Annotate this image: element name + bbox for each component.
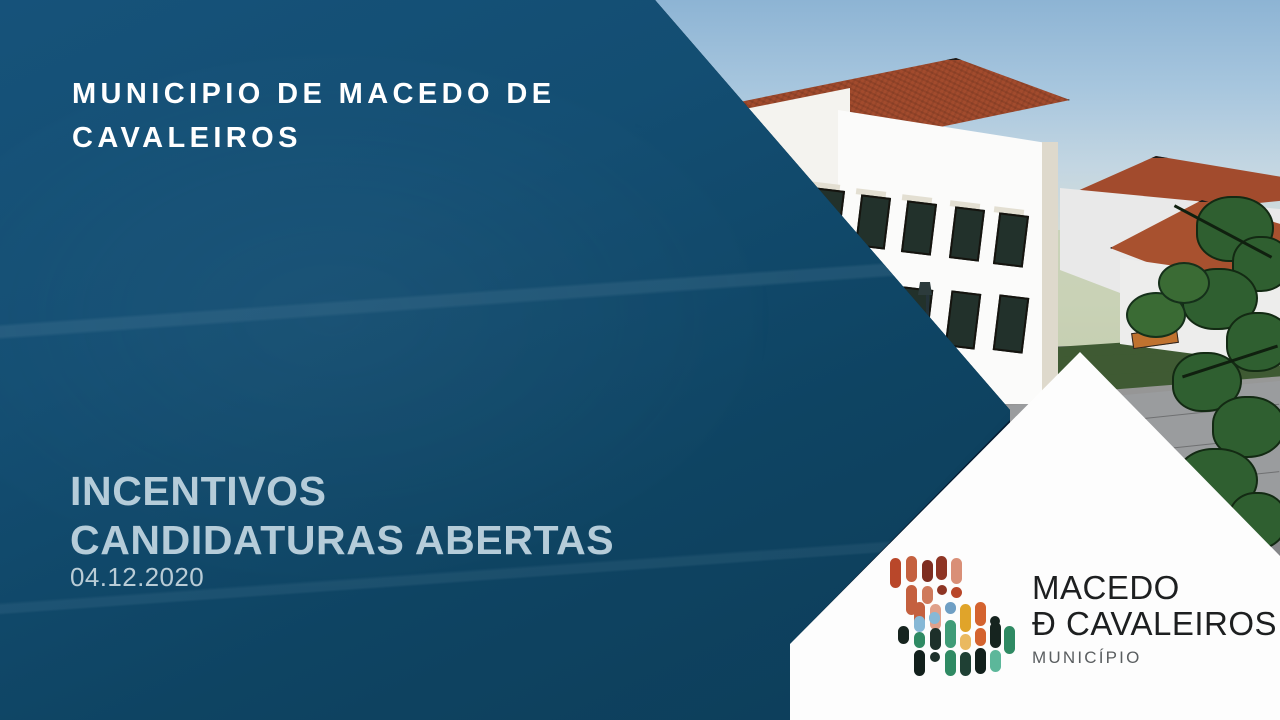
street-lamp-head-icon [918,282,932,295]
announcement-date: 04.12.2020 [70,562,204,593]
shrub [1158,262,1210,304]
page-title: MUNICIPIO DE MACEDO DE CAVALEIROS [72,72,702,160]
window [949,206,985,261]
pixel-mosaic-logo-icon [884,554,1014,680]
logo-subtitle: MUNICÍPIO [1032,648,1277,668]
poster-canvas: MUNICIPIO DE MACEDO DE CAVALEIROS INCENT… [0,0,1280,720]
announcement-line-1: INCENTIVOS [70,470,790,513]
building-corner-quoin [1042,142,1058,410]
municipality-logo: MACEDO Ð CAVALEIROS MUNICÍPIO [884,548,1280,684]
logo-name-line-2: Ð CAVALEIROS [1032,606,1277,642]
announcement-heading: INCENTIVOS CANDIDATURAS ABERTAS [70,470,790,563]
window [993,212,1029,267]
logo-wordmark: MACEDO Ð CAVALEIROS MUNICÍPIO [1032,570,1277,668]
logo-name-line-1: MACEDO [1032,570,1277,606]
window [901,200,937,255]
announcement-line-2: CANDIDATURAS ABERTAS [70,519,790,562]
